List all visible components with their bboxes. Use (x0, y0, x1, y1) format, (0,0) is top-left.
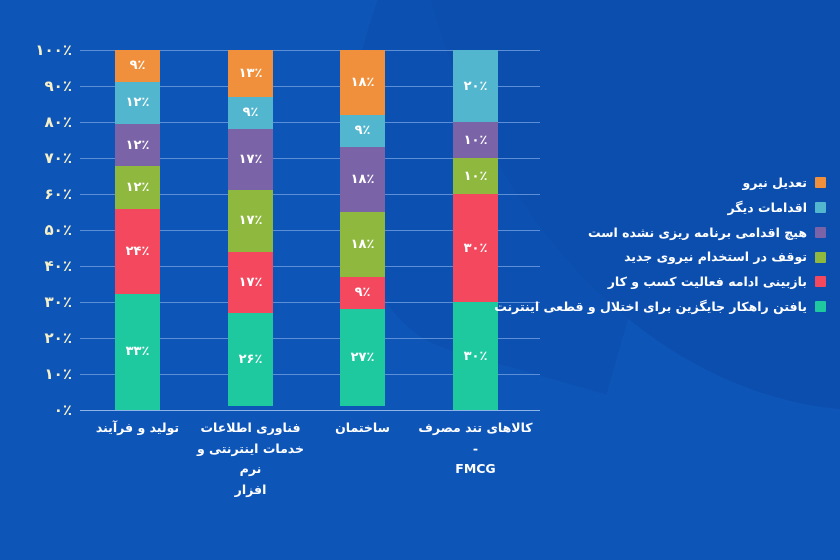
x-axis-category-label: تولید و فرآیند (78, 418, 198, 439)
bar-column[interactable]: ۱۸٪۹٪۱۸٪۱۸٪۹٪۲۷٪ (340, 50, 385, 410)
x-axis-category-line: کالاهای تند مصرف - (416, 418, 536, 459)
x-axis-category-label: کالاهای تند مصرف -FMCG (416, 418, 536, 480)
y-axis-tick-label: ۸۰٪ (45, 113, 72, 131)
bar-segment[interactable]: ۱۲٪ (115, 166, 160, 208)
bar-segment[interactable]: ۹٪ (340, 277, 385, 309)
y-axis-tick-label: ۲۰٪ (45, 329, 72, 347)
legend-swatch-icon (815, 301, 826, 312)
x-axis-category-label: فناوری اطلاعاتخدمات اینترنتی و نرمافزار (191, 418, 311, 501)
bar-column[interactable]: ۲۰٪۱۰٪۱۰٪۳۰٪۳۰٪ (453, 50, 498, 410)
legend-swatch-icon (815, 227, 826, 238)
bar-column[interactable]: ۹٪۱۲٪۱۲٪۱۲٪۲۴٪۳۳٪ (115, 50, 160, 410)
legend-swatch-icon (815, 252, 826, 263)
bar-segment[interactable]: ۲۶٪ (228, 313, 273, 407)
bar-segment[interactable]: ۹٪ (115, 50, 160, 82)
bar-segment[interactable]: ۱۲٪ (115, 124, 160, 166)
legend-swatch-icon (815, 202, 826, 213)
legend-item[interactable]: توقف در استخدام نیروی جدید (558, 250, 826, 264)
y-axis-tick-label: ۱۰٪ (45, 365, 72, 383)
bar-segment[interactable]: ۱۲٪ (115, 82, 160, 124)
y-axis-tick-label: ۱۰۰٪ (35, 41, 72, 59)
legend-swatch-icon (815, 177, 826, 188)
legend-item-label: هیچ اقدامی برنامه ریزی نشده است (588, 226, 807, 240)
legend-item-label: توقف در استخدام نیروی جدید (624, 250, 807, 264)
stacked-bar-chart: ۰٪۱۰٪۲۰٪۳۰٪۴۰٪۵۰٪۶۰٪۷۰٪۸۰٪۹۰٪۱۰۰٪ ۹٪۱۲٪۱… (0, 0, 840, 560)
x-axis-category-line: ساختمان (303, 418, 423, 439)
bar-segment[interactable]: ۲۰٪ (453, 50, 498, 122)
legend-item[interactable]: تعدیل نیرو (558, 176, 826, 190)
y-axis-tick-label: ۶۰٪ (45, 185, 72, 203)
bar-segment[interactable]: ۱۸٪ (340, 50, 385, 115)
legend-item-label: یافتن راهکار جایگزین برای اختلال و قطعی … (494, 300, 807, 314)
bar-segment[interactable]: ۱۰٪ (453, 122, 498, 158)
bar-segment[interactable]: ۳۰٪ (453, 194, 498, 302)
bar-segment[interactable]: ۹٪ (340, 115, 385, 147)
x-axis-category-label: ساختمان (303, 418, 423, 439)
bar-segment[interactable]: ۱۷٪ (228, 129, 273, 190)
bar-segment[interactable]: ۱۷٪ (228, 252, 273, 313)
bar-segment[interactable]: ۱۸٪ (340, 212, 385, 277)
legend-item[interactable]: هیچ اقدامی برنامه ریزی نشده است (558, 226, 826, 240)
legend-item-label: اقدامات دیگر (728, 201, 807, 215)
bar-segment[interactable]: ۳۳٪ (115, 294, 160, 410)
bar-column[interactable]: ۱۳٪۹٪۱۷٪۱۷٪۱۷٪۲۶٪ (228, 50, 273, 410)
legend-item[interactable]: بازبینی ادامه فعالیت کسب و کار (558, 275, 826, 289)
legend-item[interactable]: یافتن راهکار جایگزین برای اختلال و قطعی … (558, 300, 826, 314)
y-axis-tick-label: ۰٪ (54, 401, 72, 419)
gridline-0 (80, 410, 540, 411)
legend-item[interactable]: اقدامات دیگر (558, 201, 826, 215)
x-axis: تولید و فرآیندفناوری اطلاعاتخدمات اینترن… (80, 418, 540, 528)
x-axis-category-line: تولید و فرآیند (78, 418, 198, 439)
x-axis-category-line: فناوری اطلاعات (191, 418, 311, 439)
bar-segment[interactable]: ۲۴٪ (115, 209, 160, 294)
bar-segment[interactable]: ۹٪ (228, 97, 273, 129)
y-axis-tick-label: ۹۰٪ (45, 77, 72, 95)
bar-segment[interactable]: ۱۷٪ (228, 190, 273, 251)
legend-item-label: تعدیل نیرو (742, 176, 807, 190)
y-axis-tick-label: ۴۰٪ (45, 257, 72, 275)
bar-segment[interactable]: ۲۷٪ (340, 309, 385, 406)
bar-segment[interactable]: ۱۰٪ (453, 158, 498, 194)
legend-item-label: بازبینی ادامه فعالیت کسب و کار (608, 275, 807, 289)
y-axis-tick-label: ۳۰٪ (45, 293, 72, 311)
y-axis: ۰٪۱۰٪۲۰٪۳۰٪۴۰٪۵۰٪۶۰٪۷۰٪۸۰٪۹۰٪۱۰۰٪ (0, 50, 76, 410)
y-axis-tick-label: ۷۰٪ (45, 149, 72, 167)
plot-area: ۹٪۱۲٪۱۲٪۱۲٪۲۴٪۳۳٪۱۳٪۹٪۱۷٪۱۷٪۱۷٪۲۶٪۱۸٪۹٪۱… (80, 50, 540, 410)
x-axis-category-line: افزار (191, 480, 311, 501)
x-axis-category-line: FMCG (416, 459, 536, 480)
bar-segment[interactable]: ۳۰٪ (453, 302, 498, 410)
bar-segment[interactable]: ۱۸٪ (340, 147, 385, 212)
chart-legend: تعدیل نیرواقدامات دیگرهیچ اقدامی برنامه … (558, 176, 826, 314)
y-axis-tick-label: ۵۰٪ (45, 221, 72, 239)
x-axis-category-line: خدمات اینترنتی و نرم (191, 439, 311, 480)
bar-segment[interactable]: ۱۳٪ (228, 50, 273, 97)
legend-swatch-icon (815, 276, 826, 287)
